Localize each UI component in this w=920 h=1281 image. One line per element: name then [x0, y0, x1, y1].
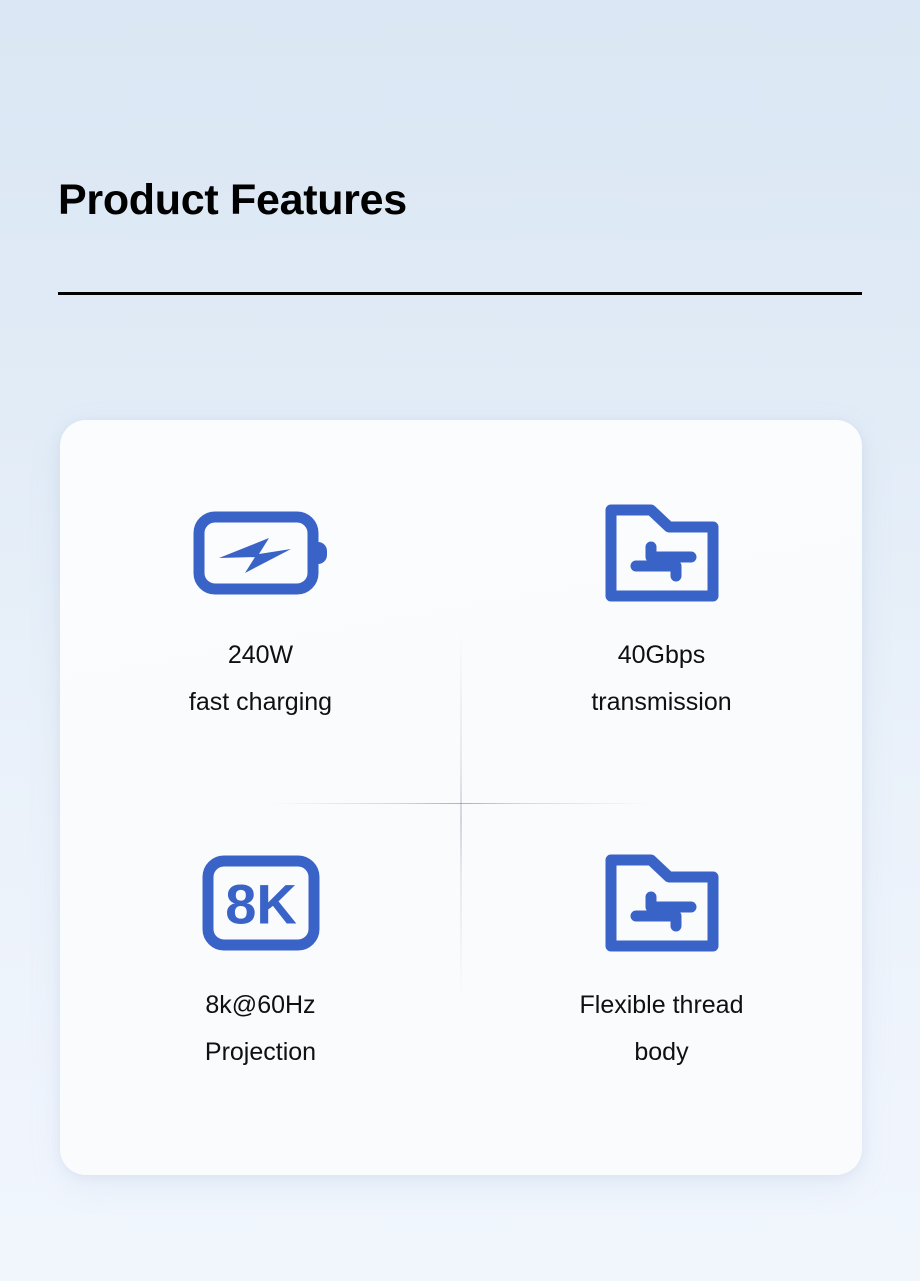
resolution-8k-icon: 8K: [202, 854, 320, 952]
feature-label: 240W fast charging: [189, 632, 332, 726]
features-grid: 240W fast charging 40Gbps transmission: [60, 420, 862, 1175]
feature-item-flexible-thread: Flexible thread body: [461, 798, 862, 1176]
folder-transfer-icon: [604, 854, 720, 952]
feature-item-transmission: 40Gbps transmission: [461, 420, 862, 798]
feature-label-line1: 240W: [189, 632, 332, 679]
page-header: Product Features: [58, 178, 862, 224]
feature-item-projection: 8K 8k@60Hz Projection: [60, 798, 461, 1176]
page-title: Product Features: [58, 178, 862, 224]
feature-label-line1: Flexible thread: [580, 982, 744, 1029]
feature-label-line1: 8k@60Hz: [205, 982, 316, 1029]
title-underline-rule: [58, 292, 862, 295]
features-card: 240W fast charging 40Gbps transmission: [60, 420, 862, 1175]
folder-transfer-icon: [604, 504, 720, 602]
product-features-page: Product Features 240W fast charging: [0, 0, 920, 1281]
feature-item-fast-charging: 240W fast charging: [60, 420, 461, 798]
feature-label-line2: Projection: [205, 1029, 316, 1076]
feature-label: 8k@60Hz Projection: [205, 982, 316, 1076]
battery-charging-icon: [193, 504, 329, 602]
feature-label-line1: 40Gbps: [591, 632, 731, 679]
feature-label: Flexible thread body: [580, 982, 744, 1076]
feature-label-line2: fast charging: [189, 679, 332, 726]
resolution-8k-icon-text: 8K: [225, 872, 297, 935]
feature-label-line2: body: [580, 1029, 744, 1076]
feature-label-line2: transmission: [591, 679, 731, 726]
feature-label: 40Gbps transmission: [591, 632, 731, 726]
